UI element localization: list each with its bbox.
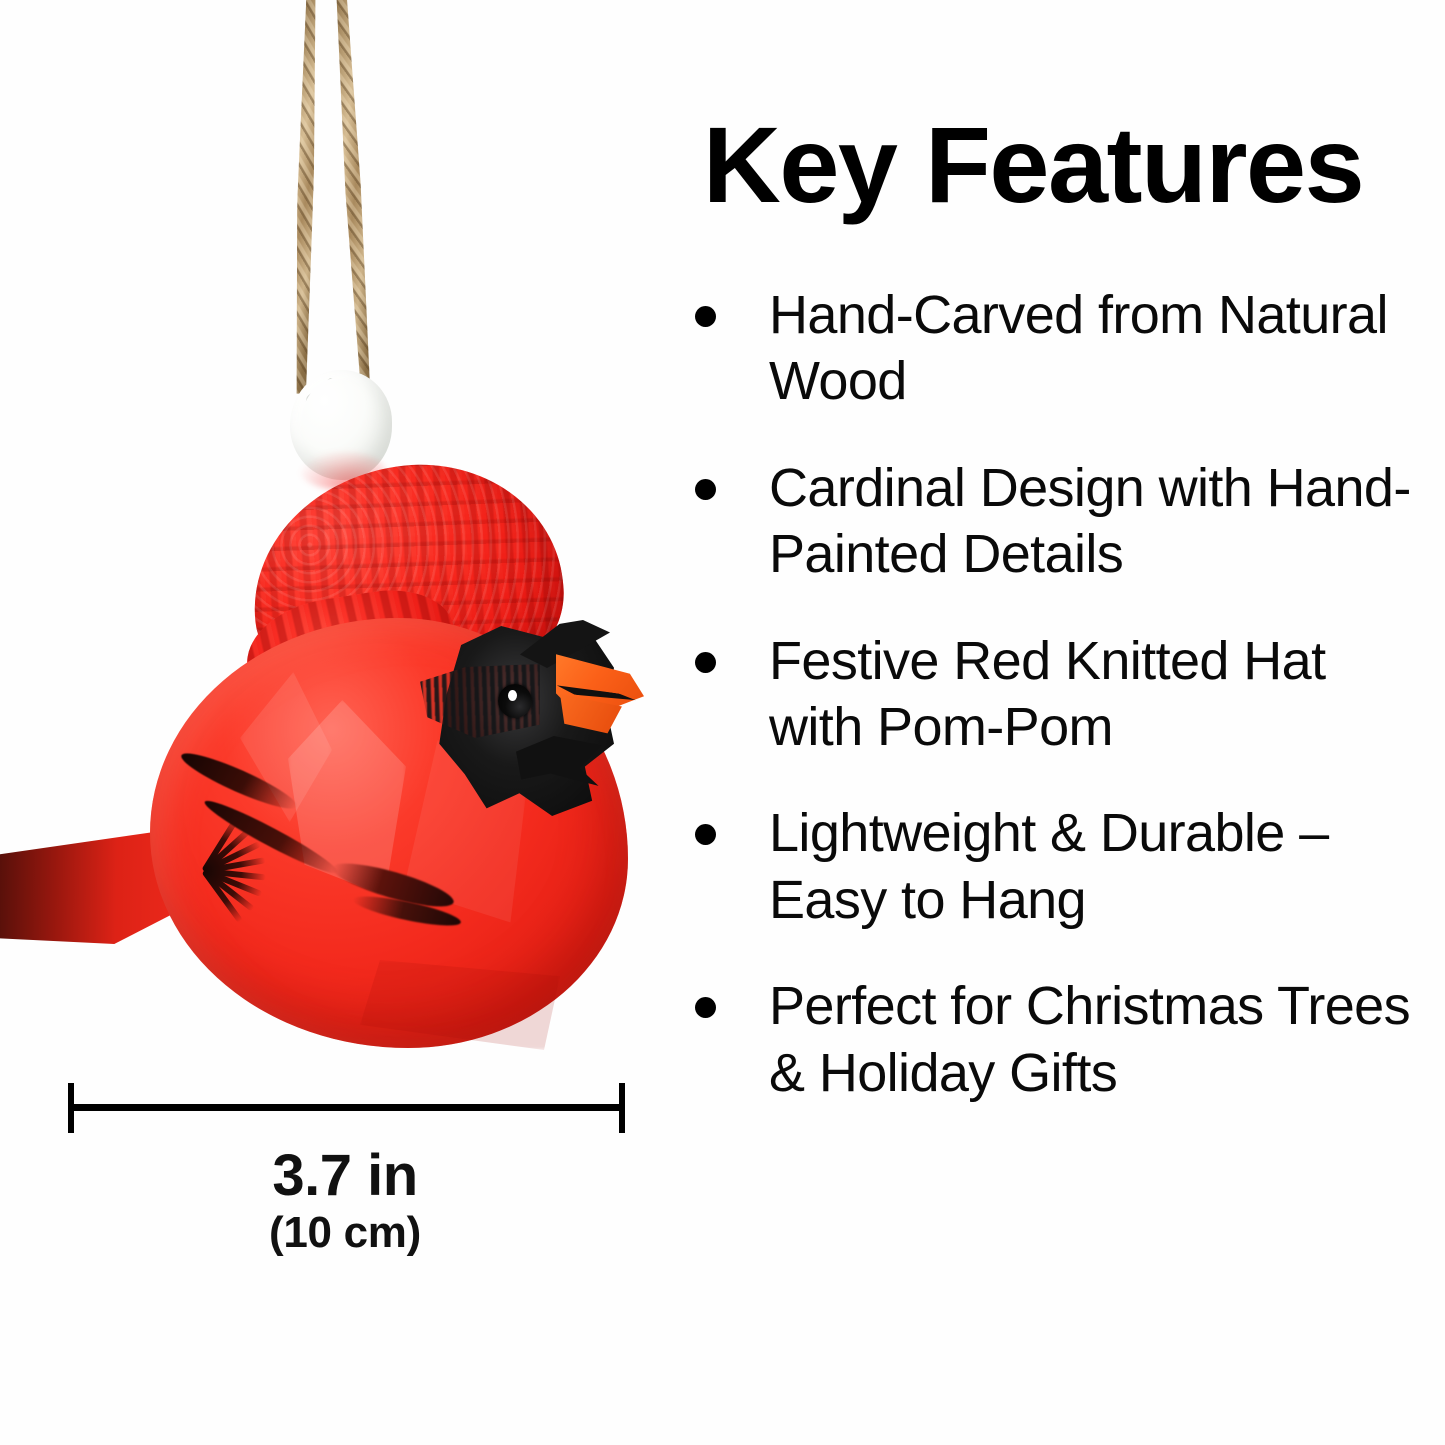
feature-list: Hand-Carved from Natural Wood Cardinal D… bbox=[674, 282, 1414, 1106]
cord-twist-texture bbox=[292, 0, 319, 394]
feature-text: Cardinal Design with Hand-Painted Detail… bbox=[769, 458, 1411, 584]
feature-text: Lightweight & Durable – Easy to Hang bbox=[769, 803, 1329, 929]
dimension-line bbox=[68, 1104, 625, 1111]
feature-text: Perfect for Christmas Trees & Holiday Gi… bbox=[769, 976, 1410, 1102]
feature-list-item: Hand-Carved from Natural Wood bbox=[674, 282, 1414, 415]
dimension-label-centimeters: (10 cm) bbox=[0, 1208, 690, 1258]
dimension-label-inches: 3.7 in bbox=[0, 1142, 690, 1209]
hanging-cord-strand-left bbox=[292, 0, 319, 394]
feature-text: Hand-Carved from Natural Wood bbox=[769, 285, 1388, 411]
dimension-cap-left bbox=[68, 1083, 74, 1133]
bird-eye bbox=[498, 684, 532, 718]
cord-twist-texture bbox=[333, 0, 374, 392]
bullet-icon bbox=[695, 652, 716, 673]
feature-list-item: Festive Red Knitted Hat with Pom-Pom bbox=[674, 628, 1414, 761]
key-features-panel: Key Features Hand-Carved from Natural Wo… bbox=[660, 0, 1445, 1445]
feature-list-item: Lightweight & Durable – Easy to Hang bbox=[674, 800, 1414, 933]
feature-list-item: Cardinal Design with Hand-Painted Detail… bbox=[674, 455, 1414, 588]
bullet-icon bbox=[695, 479, 716, 500]
dimension-cap-right bbox=[619, 1083, 625, 1133]
feature-list-item: Perfect for Christmas Trees & Holiday Gi… bbox=[674, 973, 1414, 1106]
infographic-page: 3.7 in (10 cm) Key Features Hand-Carved … bbox=[0, 0, 1445, 1445]
key-features-title: Key Features bbox=[683, 108, 1383, 221]
bullet-icon bbox=[695, 306, 716, 327]
bird-eye-highlight bbox=[508, 690, 517, 701]
bullet-icon bbox=[695, 824, 716, 845]
bullet-icon bbox=[695, 997, 716, 1018]
product-photo: 3.7 in (10 cm) bbox=[0, 0, 660, 1445]
feature-text: Festive Red Knitted Hat with Pom-Pom bbox=[769, 631, 1325, 757]
hanging-cord-strand-right bbox=[333, 0, 374, 392]
